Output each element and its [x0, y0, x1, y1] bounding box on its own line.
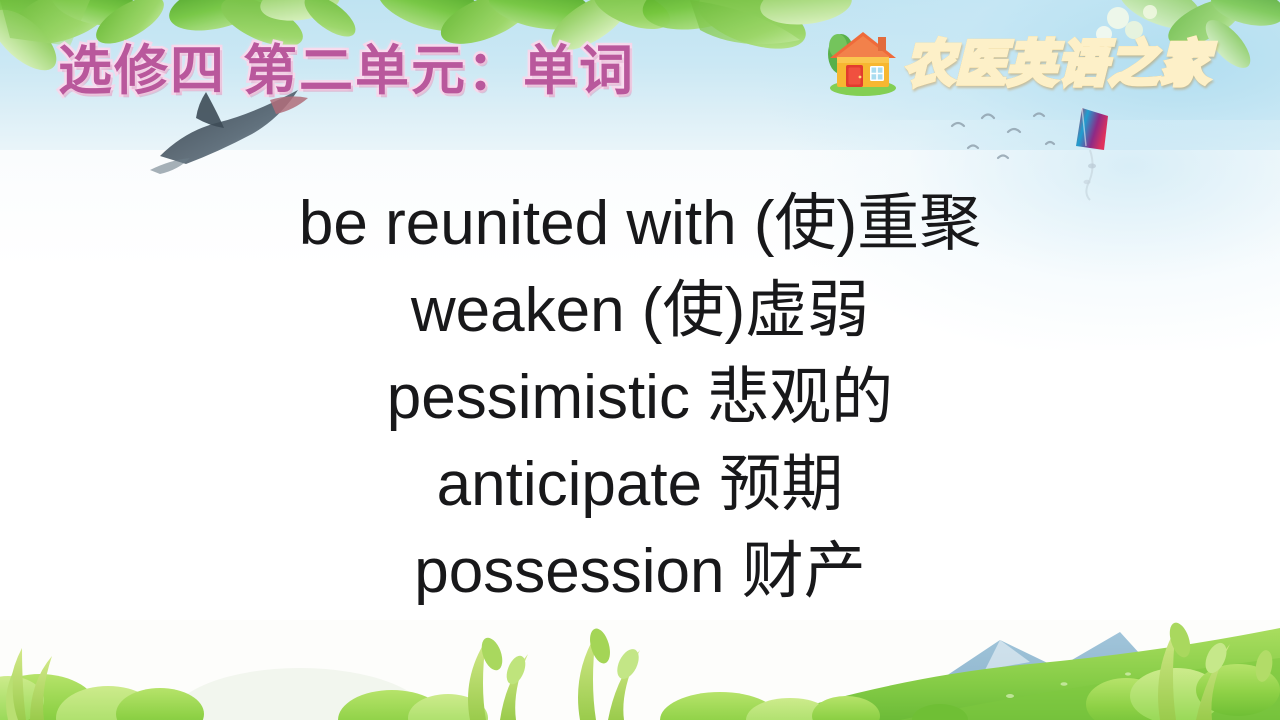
hill-highlights — [1006, 672, 1131, 698]
vocab-line: pessimistic 悲观的 — [0, 354, 1280, 441]
mountain-right — [880, 632, 1200, 720]
vocab-line: weaken (使)虚弱 — [0, 267, 1280, 354]
house-icon — [826, 24, 900, 96]
vocabulary-list: be reunited with (使)重聚 weaken (使)虚弱 pess… — [0, 180, 1280, 615]
bushes-bottom — [0, 664, 1280, 720]
hill-right — [760, 628, 1280, 720]
channel-logo[interactable]: 农医英语之家 — [826, 24, 1210, 96]
vocab-line: possession 财产 — [0, 528, 1280, 615]
logo-text: 农医英语之家 — [904, 24, 1210, 96]
slide-canvas: 选修四 第二单元：单词 农医英语之家 — [0, 0, 1280, 720]
vocab-line: be reunited with (使)重聚 — [0, 180, 1280, 267]
vocab-line: anticipate 预期 — [0, 441, 1280, 528]
grass-blades — [6, 620, 1275, 720]
page-title: 选修四 第二单元：单词 — [58, 26, 635, 105]
